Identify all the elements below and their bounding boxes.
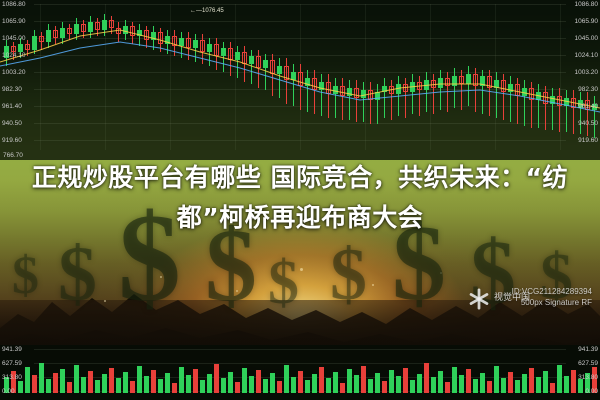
volume-bar xyxy=(39,363,44,393)
volume-axis-tick-label: 313.80 xyxy=(578,374,598,381)
volume-bar xyxy=(340,383,345,393)
volume-bar xyxy=(529,368,534,393)
volume-bar xyxy=(74,365,79,393)
volume-bar xyxy=(46,379,51,393)
axis-tick-label: 1065.90 xyxy=(575,18,599,25)
volume-bar xyxy=(221,378,226,393)
volume-bar xyxy=(361,366,366,393)
volume-bar xyxy=(536,377,541,393)
volume-bar xyxy=(18,381,23,393)
volume-bar xyxy=(116,378,121,393)
axis-tick-label: 940.50 xyxy=(2,120,22,127)
volume-bar xyxy=(438,371,443,393)
asterisk-logo-icon xyxy=(466,286,492,312)
volume-bar xyxy=(193,369,198,393)
volume-bar xyxy=(179,367,184,393)
volume-bar xyxy=(305,380,310,393)
volume-bar xyxy=(382,381,387,393)
volume-bar xyxy=(235,382,240,393)
volume-bar xyxy=(564,376,569,393)
axis-tick-label: 1024.10 xyxy=(2,52,26,59)
volume-bar xyxy=(459,375,464,393)
volume-bar xyxy=(319,367,324,393)
volume-bar xyxy=(473,379,478,393)
volume-bar xyxy=(130,381,135,393)
volume-bar xyxy=(256,370,261,393)
volume-bar xyxy=(291,377,296,393)
volume-bar xyxy=(53,373,58,393)
volume-bar xyxy=(172,383,177,393)
axis-tick-label: 1003.20 xyxy=(2,69,26,76)
axis-tick-label: 919.60 xyxy=(578,137,598,144)
image-canvas: $$$$$$$$$ 1086.801065.901045.001024.1010… xyxy=(0,0,600,400)
volume-bar xyxy=(88,371,93,393)
stock-chart-bottom: 941.39627.59313.800.00 941.39627.59313.8… xyxy=(0,345,600,400)
volume-bar xyxy=(571,370,576,393)
volume-axis-tick-label: 941.39 xyxy=(578,346,598,353)
axis-tick-label: 982.30 xyxy=(2,86,22,93)
volume-bar xyxy=(200,380,205,393)
volume-gridline xyxy=(34,363,566,364)
volume-bar xyxy=(487,381,492,393)
volume-bar xyxy=(557,365,562,393)
volume-bar xyxy=(403,368,408,393)
volume-bar xyxy=(60,369,65,393)
volume-bar xyxy=(480,373,485,393)
axis-tick-label: 1065.90 xyxy=(2,18,26,25)
volume-bar xyxy=(137,366,142,393)
chart-bottom-left-label: 766.70 xyxy=(3,152,23,159)
volume-bar xyxy=(158,379,163,393)
chart-callout: ←—1076.45 xyxy=(190,8,224,14)
volume-axis-tick-label: 941.39 xyxy=(2,346,22,353)
volume-bar xyxy=(270,373,275,393)
volume-bar xyxy=(501,378,506,393)
volume-bar xyxy=(578,379,583,393)
volume-bar xyxy=(123,372,128,393)
volume-bar xyxy=(25,367,30,393)
volume-bar xyxy=(347,369,352,393)
axis-tick-label: 919.60 xyxy=(2,137,22,144)
watermark-id: ID:VCG211284289394 xyxy=(512,286,592,297)
axis-tick-label: 961.40 xyxy=(2,103,22,110)
dollar-sign-icon: $ xyxy=(330,238,367,312)
headline-text: 正规炒股平台有哪些 国际竞合，共织未来：“纺 都”柯桥再迎布商大会 xyxy=(22,158,578,238)
volume-bar xyxy=(67,382,72,393)
headline-line-1: 正规炒股平台有哪些 国际竞合，共织未来：“纺 xyxy=(22,158,578,198)
volume-bar xyxy=(508,372,513,393)
volume-bar xyxy=(277,381,282,393)
volume-bar xyxy=(543,371,548,393)
volume-bar xyxy=(515,380,520,393)
volume-bar xyxy=(165,373,170,393)
axis-tick-label: 982.30 xyxy=(578,86,598,93)
volume-bar xyxy=(445,382,450,393)
volume-bar xyxy=(228,372,233,393)
volume-axis-tick-label: 627.59 xyxy=(2,360,22,367)
volume-bar xyxy=(354,375,359,393)
volume-bar xyxy=(389,370,394,393)
volume-bar xyxy=(109,368,114,393)
volume-axis-tick-label: 313.80 xyxy=(2,374,22,381)
volume-gridline xyxy=(34,349,566,350)
volume-axis-tick-label: 0.00 xyxy=(2,388,15,395)
volume-bar xyxy=(431,377,436,393)
volume-bar xyxy=(312,374,317,393)
volume-bar xyxy=(95,380,100,393)
volume-bar xyxy=(102,374,107,393)
volume-bar xyxy=(466,369,471,393)
axis-tick-label: 1024.10 xyxy=(575,52,599,59)
volume-bar xyxy=(494,366,499,393)
stock-chart-top: 1086.801065.901045.001024.101003.20982.3… xyxy=(0,0,600,160)
moving-average-lines xyxy=(0,0,600,160)
dollar-sign-icon: $ xyxy=(58,235,97,313)
volume-bar xyxy=(522,374,527,393)
dollar-sign-icon: $ xyxy=(12,248,39,302)
volume-bar xyxy=(242,368,247,393)
volume-bar xyxy=(452,367,457,393)
volume-bar xyxy=(186,375,191,393)
watermark-license: 500px Signature RF xyxy=(512,297,592,308)
axis-tick-label: 1086.80 xyxy=(2,1,26,8)
volume-axis-tick-label: 0.00 xyxy=(585,388,598,395)
axis-tick-label: 1086.80 xyxy=(575,1,599,8)
volume-axis-tick-label: 627.59 xyxy=(578,360,598,367)
volume-bar xyxy=(249,376,254,393)
watermark-text: ID:VCG211284289394 500px Signature RF xyxy=(512,286,592,308)
volume-bar xyxy=(326,378,331,393)
axis-tick-label: 961.40 xyxy=(578,103,598,110)
volume-bar xyxy=(284,365,289,393)
volume-bar xyxy=(417,374,422,393)
volume-bar xyxy=(333,372,338,393)
axis-tick-label: 1003.20 xyxy=(575,69,599,76)
volume-bar xyxy=(263,379,268,393)
volume-bar xyxy=(368,379,373,393)
volume-bar xyxy=(214,364,219,393)
volume-bar xyxy=(396,376,401,393)
axis-tick-label: 1045.00 xyxy=(575,35,599,42)
volume-bar xyxy=(32,375,37,393)
headline-line-2: 都”柯桥再迎布商大会 xyxy=(22,198,578,238)
axis-tick-label: 940.50 xyxy=(578,120,598,127)
volume-bar xyxy=(207,374,212,393)
volume-bar xyxy=(144,376,149,393)
volume-bar xyxy=(81,377,86,393)
volume-bar xyxy=(410,380,415,393)
axis-tick-label: 1045.00 xyxy=(2,35,26,42)
volume-bar xyxy=(298,371,303,393)
volume-bar xyxy=(550,383,555,393)
dollar-sign-icon: $ xyxy=(268,252,299,314)
volume-bar xyxy=(151,370,156,393)
volume-bar xyxy=(424,363,429,393)
volume-bar xyxy=(375,373,380,393)
